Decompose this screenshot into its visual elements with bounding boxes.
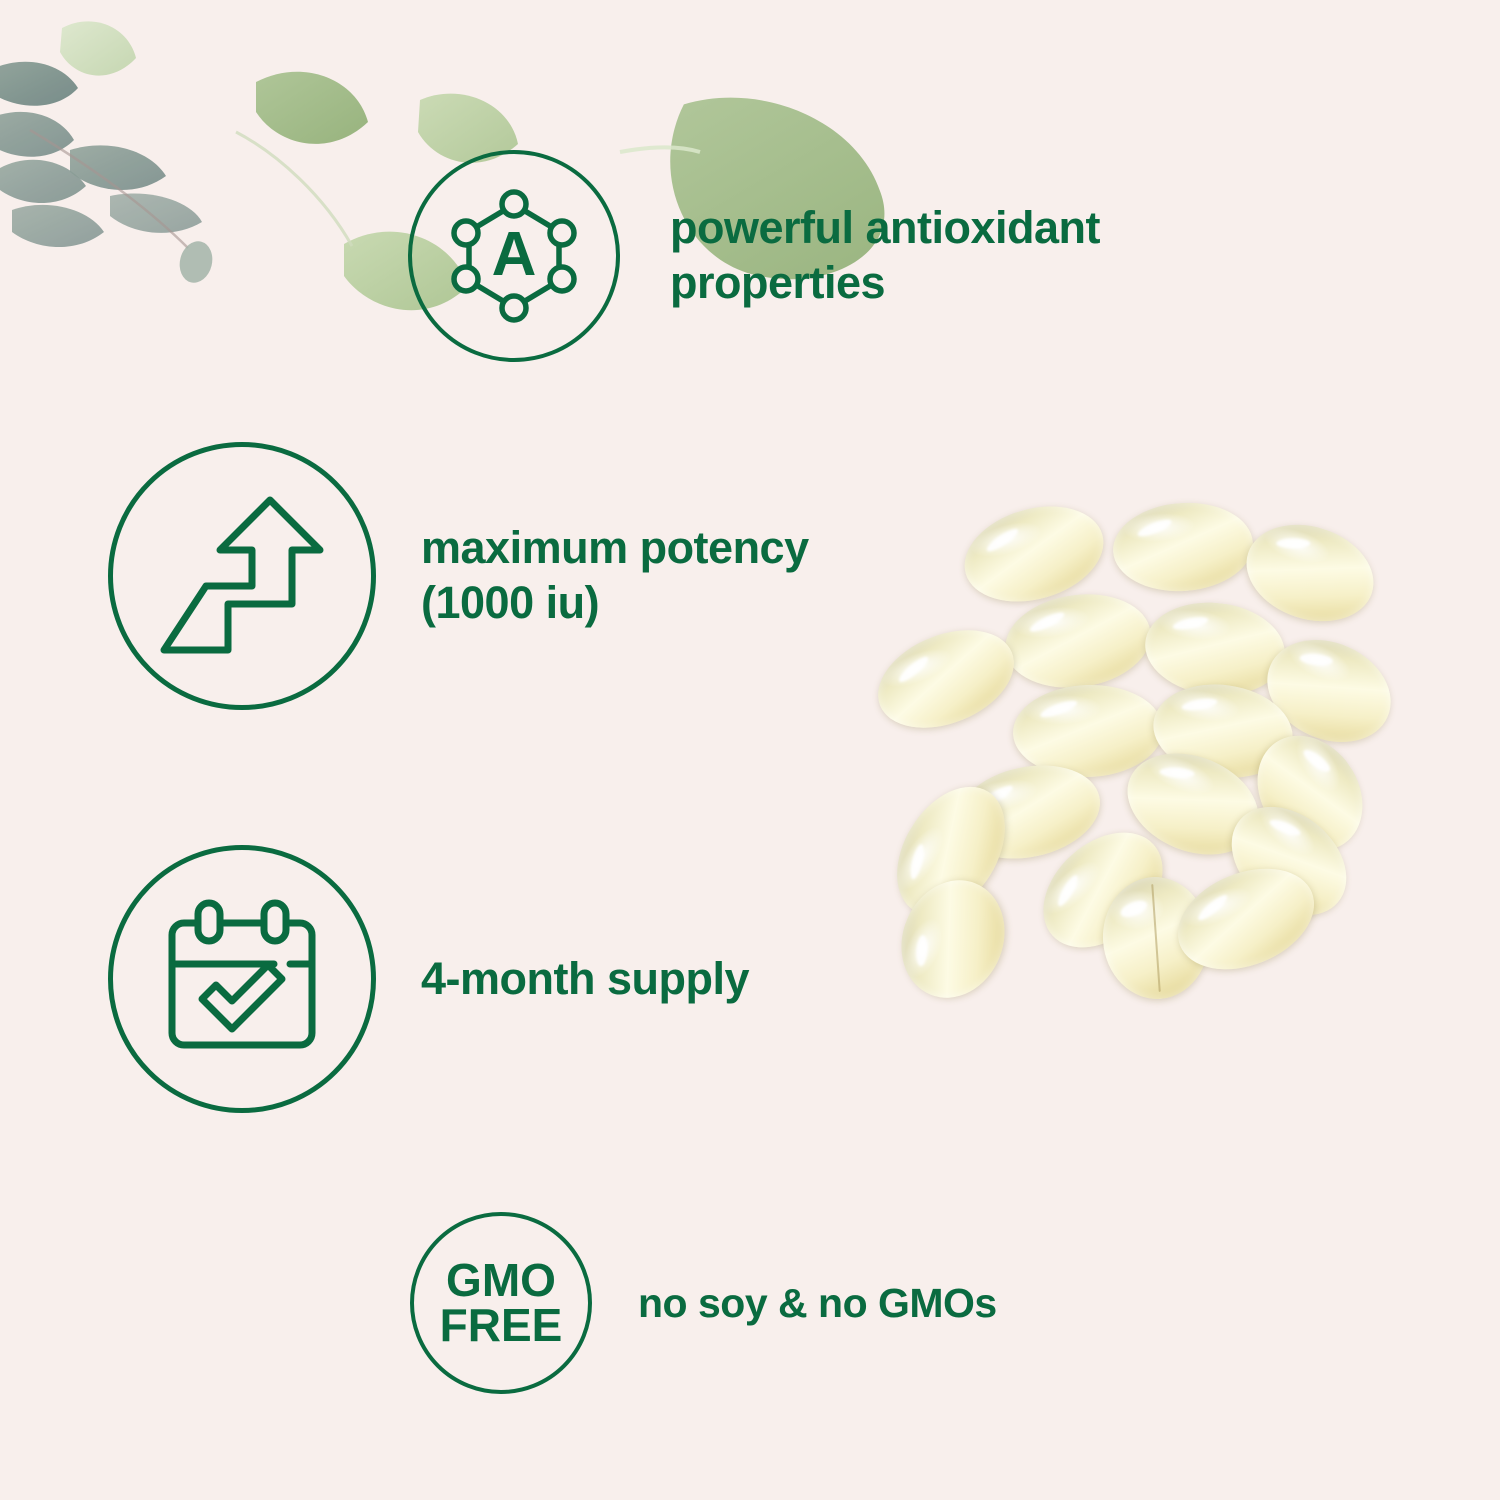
molecule-letter: A	[492, 220, 537, 289]
feature-label-potency: maximum potency (1000 iu)	[421, 521, 809, 631]
molecule-hexagon-a-icon: A	[408, 150, 620, 362]
leaf	[60, 21, 136, 75]
gmo-free-badge-text: GMO FREE	[440, 1258, 563, 1348]
leaf-sprig-dark-left	[0, 62, 217, 287]
feature-row-antioxidant: A powerful antioxidant properties	[408, 150, 1100, 362]
upward-zigzag-arrow-icon	[108, 442, 376, 710]
feature-row-supply: 4-month supply	[108, 845, 749, 1113]
feature-label-gmo: no soy & no GMOs	[638, 1278, 997, 1328]
softgel-capsules-photo	[845, 495, 1365, 1075]
badge-glyph	[108, 845, 376, 1113]
badge-glyph: GMO FREE	[410, 1212, 592, 1394]
badge-glyph	[108, 442, 376, 710]
feature-row-potency: maximum potency (1000 iu)	[108, 442, 809, 710]
gmo-free-badge-icon: GMO FREE	[410, 1212, 592, 1394]
badge-glyph: A	[408, 150, 620, 362]
feature-label-antioxidant: powerful antioxidant properties	[670, 201, 1100, 311]
calendar-check-icon	[108, 845, 376, 1113]
product-feature-infographic: A powerful antioxidant properties maximu…	[0, 0, 1500, 1500]
feature-label-supply: 4-month supply	[421, 952, 749, 1007]
feature-row-gmo: GMO FREE no soy & no GMOs	[410, 1212, 997, 1394]
